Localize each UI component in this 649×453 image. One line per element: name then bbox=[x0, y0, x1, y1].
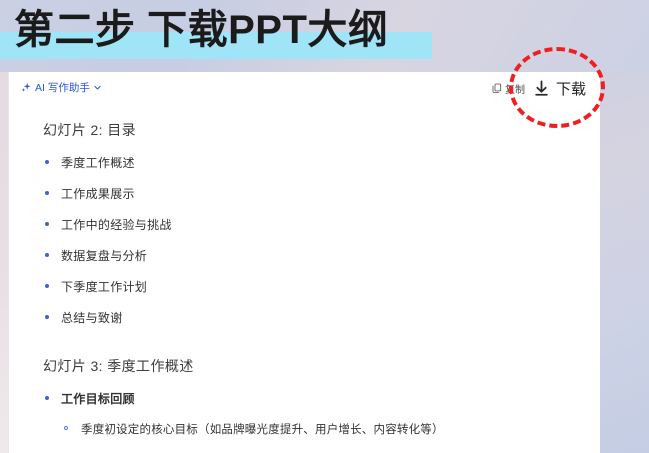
outline-content-panel: AI 写作助手 复制 bbox=[8, 72, 600, 453]
list-item: 下季度工作计划 bbox=[43, 278, 580, 295]
sparkle-icon bbox=[21, 82, 32, 93]
list-item-label: 工作目标回顾 bbox=[61, 392, 135, 406]
slide-2-bullet-list: 季度工作概述 工作成果展示 工作中的经验与挑战 数据复盘与分析 下季度工作计划 … bbox=[43, 154, 580, 326]
copy-icon bbox=[492, 83, 502, 94]
outline-document-body: 幻灯片 2: 目录 季度工作概述 工作成果展示 工作中的经验与挑战 数据复盘与分… bbox=[9, 102, 600, 453]
slide-heading-2: 幻灯片 2: 目录 bbox=[43, 120, 580, 140]
list-item: 数据复盘与分析 bbox=[43, 247, 580, 264]
ai-writing-assistant-button[interactable]: AI 写作助手 bbox=[21, 80, 102, 95]
list-item: 工作中的经验与挑战 bbox=[43, 216, 580, 233]
list-item: 工作成果展示 bbox=[43, 185, 580, 202]
left-edge-strip bbox=[0, 72, 8, 453]
download-icon bbox=[532, 79, 551, 98]
sub-list-item: 季度初设定的核心目标（如品牌曝光度提升、用户增长、内容转化等） bbox=[61, 421, 580, 437]
chevron-down-icon bbox=[93, 83, 102, 92]
list-item: 工作目标回顾 季度初设定的核心目标（如品牌曝光度提升、用户增长、内容转化等） 具… bbox=[43, 390, 580, 453]
list-item: 总结与致谢 bbox=[43, 309, 580, 326]
slide-3-sub-list: 季度初设定的核心目标（如品牌曝光度提升、用户增长、内容转化等） 具体 KPI 指… bbox=[61, 421, 580, 453]
download-label: 下载 bbox=[556, 78, 586, 99]
copy-button[interactable]: 复制 bbox=[492, 81, 525, 96]
title-banner: 第二步 下载PPT大纲 bbox=[0, 0, 649, 72]
copy-label: 复制 bbox=[505, 81, 525, 96]
toolbar-actions: 复制 下载 bbox=[492, 78, 586, 99]
list-item: 季度工作概述 bbox=[43, 154, 580, 171]
slide-heading-3: 幻灯片 3: 季度工作概述 bbox=[43, 356, 580, 376]
slide-3-bullet-list: 工作目标回顾 季度初设定的核心目标（如品牌曝光度提升、用户增长、内容转化等） 具… bbox=[43, 390, 580, 453]
download-button[interactable]: 下载 bbox=[532, 78, 586, 99]
ai-assistant-label: AI 写作助手 bbox=[35, 80, 90, 95]
document-toolbar: AI 写作助手 复制 bbox=[9, 72, 600, 102]
page-title: 第二步 下载PPT大纲 bbox=[14, 2, 388, 58]
